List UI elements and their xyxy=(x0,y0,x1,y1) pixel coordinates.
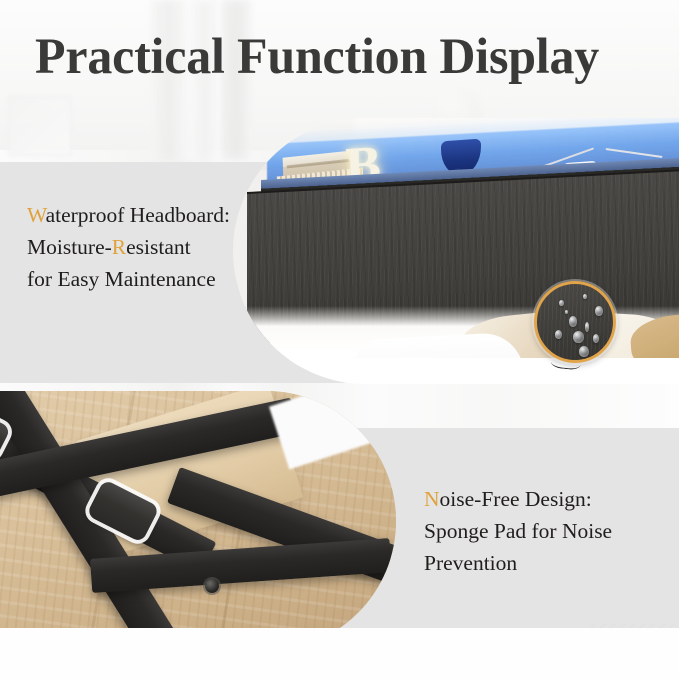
screw-icon xyxy=(205,579,219,593)
feature-line-2-pre: Moisture- xyxy=(27,235,112,259)
water-droplet xyxy=(565,310,568,314)
feature-line-3: for Easy Maintenance xyxy=(27,263,327,295)
feature-line-1: Waterproof Headboard: xyxy=(27,199,327,231)
accent-letter: W xyxy=(27,203,46,227)
marketing-image: Practical Function Display B xyxy=(0,0,679,679)
feature-line-2-rest: esistant xyxy=(126,235,191,259)
bottom-whitespace xyxy=(0,628,679,679)
feature-text-waterproof: Waterproof Headboard: Moisture-Resistant… xyxy=(27,199,327,295)
feature-line-2: Moisture-Resistant xyxy=(27,231,327,263)
water-droplet xyxy=(559,300,564,306)
water-droplet xyxy=(579,346,589,357)
feature-line-3: Prevention xyxy=(424,547,674,579)
water-droplet xyxy=(583,294,587,299)
feature-line-1-rest: aterproof Headboard: xyxy=(46,203,230,227)
water-droplet xyxy=(555,330,562,339)
water-droplet xyxy=(595,306,603,316)
water-droplet xyxy=(569,316,577,327)
feature-line-1-rest: oise-Free Design: xyxy=(440,487,592,511)
water-droplet-detail-callout xyxy=(534,281,616,363)
water-droplet xyxy=(593,334,599,343)
water-droplet xyxy=(573,331,584,343)
bed-sheet xyxy=(233,358,679,384)
water-droplet xyxy=(585,322,589,332)
accent-letter: N xyxy=(424,487,440,511)
feature-line-1: Noise-Free Design: xyxy=(424,483,674,515)
feature-text-noise-free: Noise-Free Design: Sponge Pad for Noise … xyxy=(424,483,674,579)
bed-slat-photo xyxy=(0,391,396,651)
page-title: Practical Function Display xyxy=(35,31,599,84)
feature-line-2: Sponge Pad for Noise xyxy=(424,515,674,547)
accent-letter: R xyxy=(112,235,126,259)
